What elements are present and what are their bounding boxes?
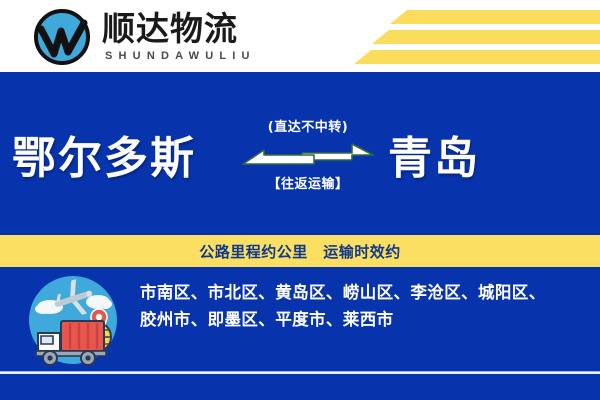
destination-city: 青岛	[388, 122, 480, 186]
coverage-district-list: 市南区、市北区、黄岛区、崂山区、李沧区、城阳区、 胶州市、即墨区、平度市、莱西市	[140, 279, 590, 333]
info-bar-text: 公路里程约公里 运输时效约	[199, 241, 401, 262]
truck-plane-globe-icon	[26, 273, 120, 367]
route-section: 鄂尔多斯 (直达不中转) 【往返运输】 青岛	[0, 72, 600, 235]
brand-name-cn: 顺达物流	[102, 12, 256, 47]
brand-name-en: SHUNDAWULIU	[105, 50, 256, 62]
decorative-stripes	[310, 0, 600, 72]
stripe-1	[390, 10, 600, 24]
origin-city: 鄂尔多斯	[12, 122, 196, 186]
coverage-line-2: 胶州市、即墨区、平度市、莱西市	[140, 306, 590, 333]
banner-footer	[0, 374, 600, 400]
coverage-section: 市南区、市北区、黄岛区、崂山区、李沧区、城阳区、 胶州市、即墨区、平度市、莱西市	[0, 267, 600, 372]
stripe-3	[354, 50, 600, 64]
banner-header: 顺达物流 SHUNDAWULIU	[0, 0, 600, 72]
stripe-2	[372, 30, 600, 44]
info-bar: 公路里程约公里 运输时效约	[0, 235, 600, 267]
circular-wave-logo-icon	[32, 7, 92, 67]
brand-logo: 顺达物流 SHUNDAWULIU	[32, 6, 256, 68]
coverage-line-1: 市南区、市北区、黄岛区、崂山区、李沧区、城阳区、	[140, 279, 590, 306]
logistics-route-banner: 顺达物流 SHUNDAWULIU 鄂尔多斯 (直达不中转) 【往返运输】 青岛 …	[0, 0, 600, 400]
double-headed-arrow-icon	[242, 139, 374, 169]
route-middle: (直达不中转) 【往返运输】	[238, 116, 378, 192]
brand-text: 顺达物流 SHUNDAWULIU	[102, 12, 256, 62]
route-note-direct: (直达不中转)	[268, 116, 348, 135]
route-note-roundtrip: 【往返运输】	[267, 173, 348, 192]
